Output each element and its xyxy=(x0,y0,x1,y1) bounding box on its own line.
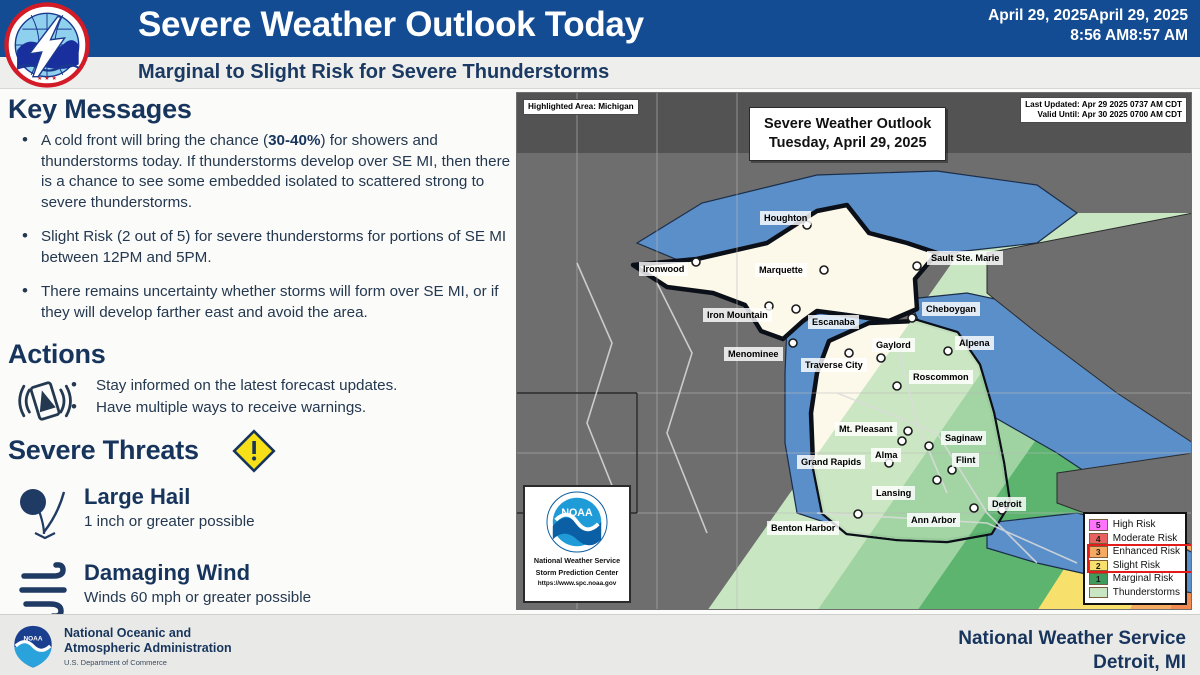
threat-name: Large Hail xyxy=(84,484,190,510)
key-message-item: Slight Risk (2 out of 5) for severe thun… xyxy=(20,227,512,268)
city-label: Traverse City xyxy=(801,358,867,372)
action-item: Have multiple ways to receive warnings. xyxy=(68,397,498,419)
warning-diamond-icon xyxy=(232,429,276,473)
map-valid-until: Valid Until: Apr 30 2025 0700 AM CDT xyxy=(1025,110,1182,120)
km-text-pre: There remains uncertainty whether storms… xyxy=(41,283,498,321)
legend-swatch: 5 xyxy=(1089,519,1108,531)
spc-line2: Storm Prediction Center xyxy=(525,568,629,577)
city-label: Alpena xyxy=(955,336,994,350)
city-label: Escanaba xyxy=(808,315,859,329)
city-label: Alma xyxy=(871,448,901,462)
legend-row[interactable]: 5High Risk xyxy=(1089,518,1180,532)
city-label: Houghton xyxy=(760,211,811,225)
spc-credit-box: NOAA National Weather Service Storm Pred… xyxy=(523,485,631,603)
risk-legend[interactable]: 5High Risk4Moderate Risk3Enhanced Risk2S… xyxy=(1083,512,1187,605)
legend-swatch xyxy=(1089,587,1108,599)
legend-swatch: 2 xyxy=(1089,560,1108,572)
city-label: Ann Arbor xyxy=(907,513,960,527)
legend-label: Enhanced Risk xyxy=(1113,546,1180,557)
footer-bar: NOAA National Oceanic and Atmospheric Ad… xyxy=(0,614,1200,675)
legend-label: Moderate Risk xyxy=(1113,533,1177,544)
legend-row[interactable]: 4Moderate Risk xyxy=(1089,532,1180,546)
km-text-pre: A cold front will bring the chance ( xyxy=(41,132,268,149)
km-text-bold: 30-40% xyxy=(268,132,320,149)
city-label: Marquette xyxy=(755,263,807,277)
left-content-panel: Key Messages A cold front will bring the… xyxy=(0,92,512,614)
city-label: Menominee xyxy=(724,347,783,361)
action-item: Stay informed on the latest forecast upd… xyxy=(68,375,498,397)
threat-description: 1 inch or greater possible xyxy=(84,513,255,530)
km-text-pre: Slight Risk (2 out of 5) for severe thun… xyxy=(41,228,506,266)
map-timestamp-chip: Last Updated: Apr 29 2025 0737 AM CDT Va… xyxy=(1020,97,1187,123)
map-title-box: Severe Weather Outlook Tuesday, April 29… xyxy=(749,107,946,161)
map-last-updated: Last Updated: Apr 29 2025 0737 AM CDT xyxy=(1025,100,1182,110)
key-messages-list: A cold front will bring the chance (30-4… xyxy=(20,131,512,337)
legend-label: Slight Risk xyxy=(1113,560,1160,571)
legend-row[interactable]: 3Enhanced Risk xyxy=(1089,545,1180,559)
threat-name: Damaging Wind xyxy=(84,560,250,586)
severe-weather-outlook-graphic: ★ ★ ★ Severe Weather Outlook Today April… xyxy=(0,0,1200,675)
city-label: Ironwood xyxy=(639,262,688,276)
legend-swatch: 1 xyxy=(1089,573,1108,585)
key-message-item: A cold front will bring the chance (30-4… xyxy=(20,131,512,213)
map-title-line1: Severe Weather Outlook xyxy=(764,115,931,134)
city-label: Iron Mountain xyxy=(703,308,772,322)
key-message-item: There remains uncertainty whether storms… xyxy=(20,282,512,323)
header-date: April 29, 2025April 29, 2025 xyxy=(988,6,1188,26)
header-time: 8:56 AM8:57 AM xyxy=(988,26,1188,46)
nws-office-credit: National Weather Service Detroit, MI xyxy=(958,627,1186,675)
national-weather-service-seal-icon: ★ ★ ★ xyxy=(3,1,91,89)
actions-heading: Actions xyxy=(8,339,106,370)
threat-large-hail: Large Hail 1 inch or greater possible xyxy=(8,484,508,550)
header-datetime: April 29, 2025April 29, 2025 8:56 AM8:57… xyxy=(988,6,1188,46)
phone-alert-icon xyxy=(18,377,74,425)
noaa-footer-line2: Atmospheric Administration xyxy=(64,641,232,656)
legend-swatch: 3 xyxy=(1089,546,1108,558)
city-label: Cheboygan xyxy=(922,302,980,316)
noaa-logo-icon: NOAA xyxy=(546,491,608,553)
city-label: Grand Rapids xyxy=(797,455,865,469)
noaa-footer-name: National Oceanic and Atmospheric Adminis… xyxy=(64,626,232,656)
city-label: Gaylord xyxy=(872,338,915,352)
nws-office-line2: Detroit, MI xyxy=(958,651,1186,675)
legend-label: Marginal Risk xyxy=(1113,573,1174,584)
hail-icon xyxy=(16,486,78,544)
noaa-logo-icon: NOAA xyxy=(10,623,56,669)
noaa-footer-line1: National Oceanic and xyxy=(64,626,232,641)
key-messages-heading: Key Messages xyxy=(8,94,192,125)
page-title: Severe Weather Outlook Today xyxy=(138,5,644,45)
severe-threats-heading: Severe Threats xyxy=(8,435,199,466)
city-label: Flint xyxy=(952,453,979,467)
city-label: Mt. Pleasant xyxy=(835,422,897,436)
severe-weather-outlook-map[interactable]: HoughtonIronwoodMarquetteSault Ste. Mari… xyxy=(516,92,1192,610)
page-subtitle: Marginal to Slight Risk for Severe Thund… xyxy=(138,61,609,84)
noaa-footer-sub: U.S. Department of Commerce xyxy=(64,658,167,667)
spc-line1: National Weather Service xyxy=(525,556,629,565)
legend-swatch: 4 xyxy=(1089,533,1108,545)
map-highlighted-area-chip: Highlighted Area: Michigan xyxy=(523,99,639,115)
svg-text:★ ★ ★: ★ ★ ★ xyxy=(37,75,57,82)
legend-label: High Risk xyxy=(1113,519,1156,530)
legend-row[interactable]: 2Slight Risk xyxy=(1089,559,1180,573)
spc-url: https://www.spc.noaa.gov xyxy=(525,580,629,587)
legend-label: Thunderstorms xyxy=(1113,587,1180,598)
city-label: Benton Harbor xyxy=(767,521,839,535)
legend-row[interactable]: Thunderstorms xyxy=(1089,586,1180,600)
legend-row[interactable]: 1Marginal Risk xyxy=(1089,572,1180,586)
wind-icon xyxy=(16,562,78,620)
city-label: Detroit xyxy=(988,497,1026,511)
svg-text:NOAA: NOAA xyxy=(561,507,593,519)
actions-list: Stay informed on the latest forecast upd… xyxy=(68,375,498,419)
city-label: Sault Ste. Marie xyxy=(927,251,1003,265)
threat-description: Winds 60 mph or greater possible xyxy=(84,589,311,606)
svg-text:NOAA: NOAA xyxy=(23,635,42,642)
city-label: Saginaw xyxy=(941,431,986,445)
city-label: Lansing xyxy=(872,486,915,500)
city-label: Roscommon xyxy=(909,370,973,384)
map-title-line2: Tuesday, April 29, 2025 xyxy=(764,134,931,153)
nws-office-line1: National Weather Service xyxy=(958,627,1186,651)
